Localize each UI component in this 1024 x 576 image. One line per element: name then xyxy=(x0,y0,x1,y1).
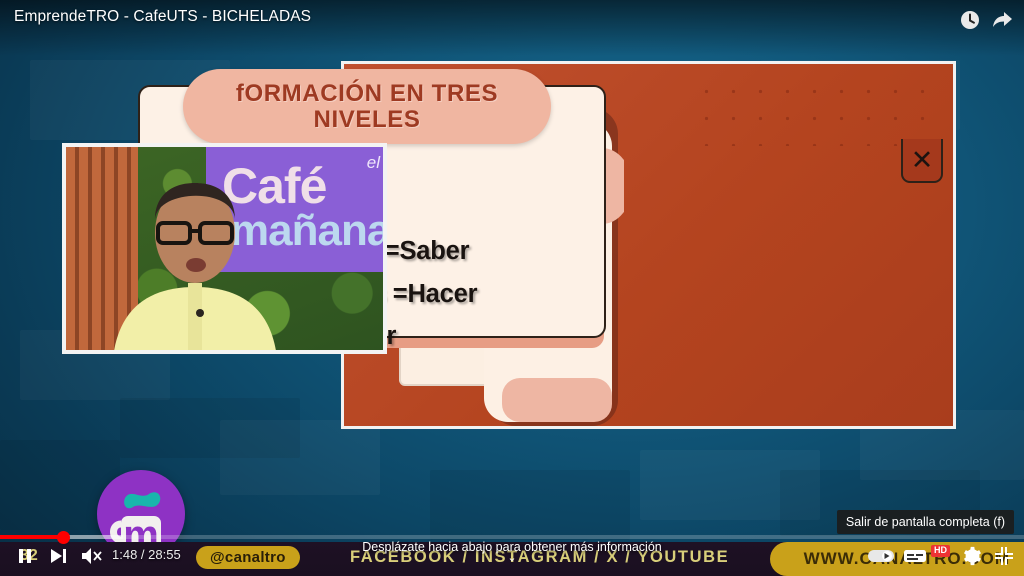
gear-icon[interactable] xyxy=(960,545,984,567)
autoplay-toggle-icon[interactable] xyxy=(866,545,896,567)
hd-badge: HD xyxy=(931,545,950,557)
slide-title-pill: fORMACIÓN EN TRES NIVELES xyxy=(183,69,551,144)
subtitles-icon[interactable] xyxy=(902,545,928,567)
player-topbar: EmprendeTRO - CafeUTS - BICHELADAS xyxy=(0,0,1024,56)
page-title: EmprendeTRO - CafeUTS - BICHELADAS xyxy=(14,8,311,26)
exit-fullscreen-icon[interactable] xyxy=(992,545,1016,567)
close-icon[interactable]: ✕ xyxy=(901,139,943,183)
bg-shape xyxy=(430,470,630,540)
progress-scrubber-handle[interactable] xyxy=(57,531,70,544)
fullscreen-tooltip: Salir de pantalla completa (f) xyxy=(837,510,1014,534)
dot-pattern xyxy=(693,78,943,146)
volume-muted-icon[interactable] xyxy=(80,545,104,567)
pause-icon[interactable] xyxy=(14,545,36,567)
chevron-down-icon[interactable]: ⌄ xyxy=(362,554,661,564)
clock-icon[interactable] xyxy=(958,8,982,32)
presenter-video-inset: el Café mañana xyxy=(62,143,387,354)
video-stage: 500 xyxy=(0,0,1024,576)
close-label: ✕ xyxy=(911,147,934,174)
slide-title-line-2: NIVELES xyxy=(314,107,421,133)
next-track-icon[interactable] xyxy=(48,545,70,567)
scroll-hint: Desplázate hacia abajo para obtener más … xyxy=(362,540,661,564)
progress-played xyxy=(0,535,63,539)
bg-shape xyxy=(220,420,380,495)
time-display: 1:48 / 28:55 xyxy=(112,547,181,562)
progress-bar[interactable] xyxy=(0,535,1024,539)
show-logo-el: el xyxy=(367,153,380,173)
slide-title-line-1: fORMACIÓN EN TRES xyxy=(236,81,498,107)
share-arrow-icon[interactable] xyxy=(990,8,1014,32)
presenter-figure xyxy=(100,171,290,354)
